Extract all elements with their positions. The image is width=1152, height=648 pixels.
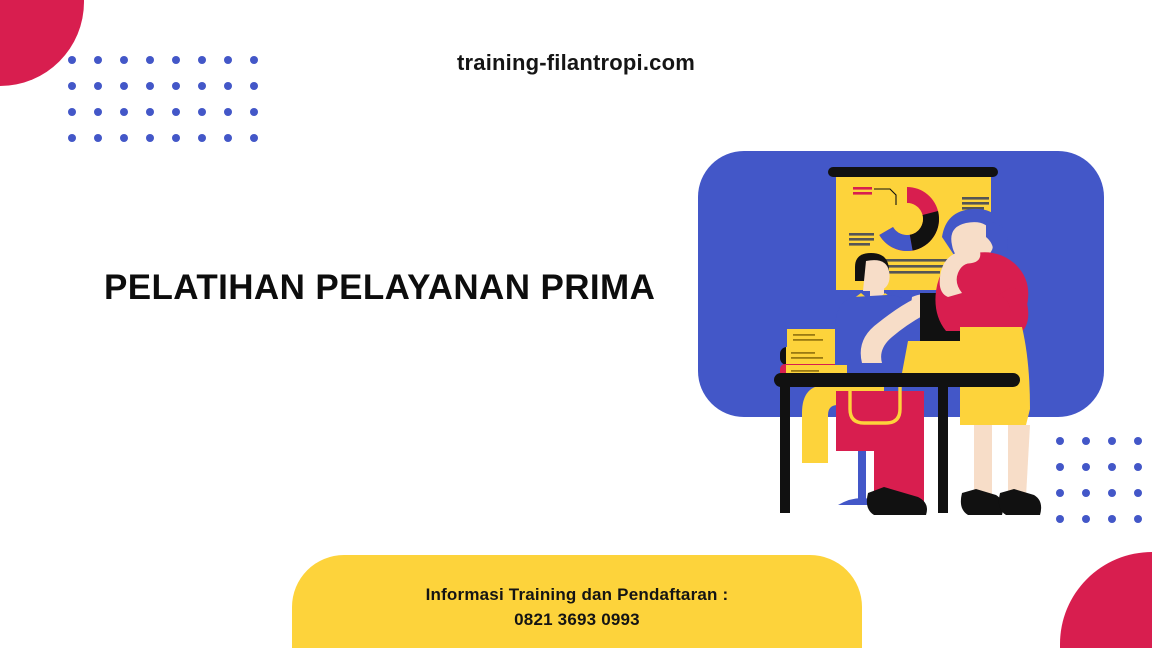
dot	[94, 134, 102, 142]
dot	[250, 82, 258, 90]
dot	[1082, 515, 1090, 523]
desk-leg-right	[938, 385, 948, 513]
desk-leg-left	[780, 385, 790, 513]
dot	[172, 108, 180, 116]
dot	[172, 134, 180, 142]
dot	[1134, 463, 1142, 471]
book-mid-lines	[791, 357, 823, 359]
dot	[172, 82, 180, 90]
trainer-shoe-right	[999, 489, 1041, 515]
board-red-tick	[853, 192, 872, 195]
dot	[146, 134, 154, 142]
dot	[68, 82, 76, 90]
dot	[198, 134, 206, 142]
board-text-line	[849, 243, 870, 246]
training-presentation-illustration	[690, 145, 1110, 515]
book-mid-lines	[791, 352, 815, 354]
dot	[198, 108, 206, 116]
info-banner: Informasi Training dan Pendaftaran : 082…	[292, 555, 862, 648]
dot	[120, 82, 128, 90]
dot	[94, 108, 102, 116]
dot	[198, 82, 206, 90]
site-url-text: training-filantropi.com	[0, 50, 1152, 76]
dot	[224, 134, 232, 142]
board-text-line	[849, 233, 874, 236]
dot	[1134, 489, 1142, 497]
dot	[146, 82, 154, 90]
dot	[224, 82, 232, 90]
board-text-line	[962, 202, 989, 205]
poster-canvas: training-filantropi.com PELATIHAN PELAYA…	[0, 0, 1152, 648]
info-banner-line-1: Informasi Training dan Pendaftaran :	[292, 582, 862, 607]
chair-stem	[858, 445, 866, 505]
dot	[68, 134, 76, 142]
dot	[146, 108, 154, 116]
board-text-line	[878, 259, 954, 262]
dot	[250, 108, 258, 116]
desk-top	[774, 373, 1020, 387]
bottom-right-red-blob	[1060, 552, 1152, 648]
dot	[1108, 515, 1116, 523]
trainer-leg-left	[974, 425, 992, 497]
dot	[120, 108, 128, 116]
book-top-yellow-lines	[793, 339, 823, 341]
book-top-yellow-lines	[793, 334, 815, 336]
board-red-tick	[853, 187, 872, 190]
donut-hole	[891, 203, 923, 235]
dot	[250, 134, 258, 142]
learner-neck	[870, 285, 884, 297]
page-title: PELATIHAN PELAYANAN PRIMA	[104, 268, 655, 308]
dot	[94, 82, 102, 90]
dot	[1056, 515, 1064, 523]
trainer-shoe-left	[961, 489, 1003, 515]
board-text-line	[849, 238, 874, 241]
book-bottom-lines	[791, 370, 819, 372]
info-banner-phone: 0821 3693 0993	[292, 607, 862, 632]
dot	[1134, 437, 1142, 445]
dot	[1134, 515, 1142, 523]
board-text-line	[962, 197, 989, 200]
dot	[120, 134, 128, 142]
trainer-leg-right	[1008, 425, 1030, 497]
board-top-bar	[828, 167, 998, 177]
dot	[68, 108, 76, 116]
dot	[224, 108, 232, 116]
